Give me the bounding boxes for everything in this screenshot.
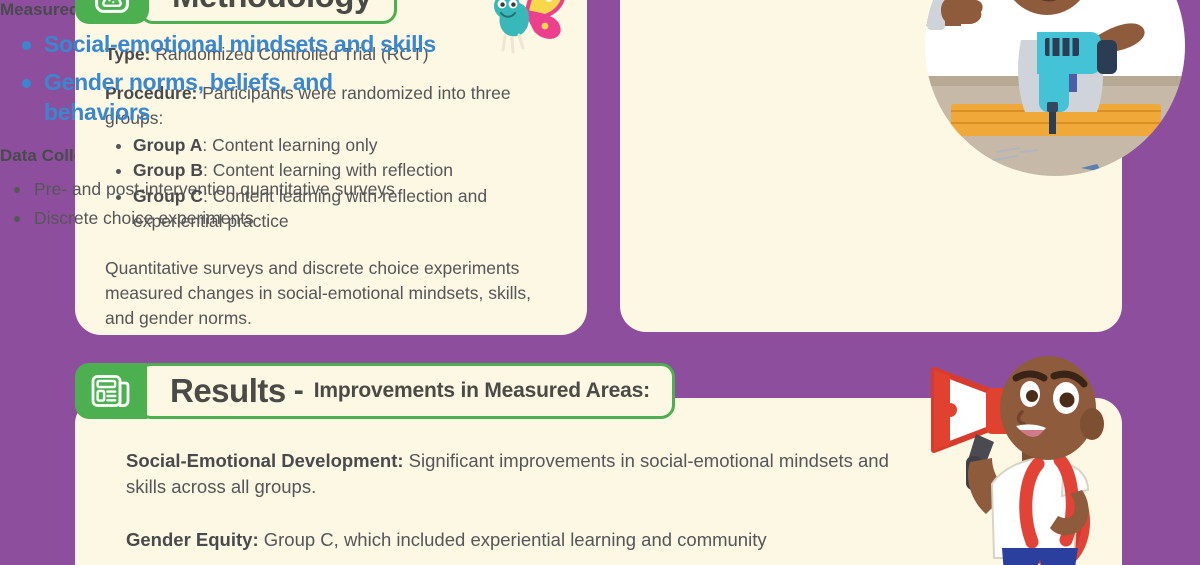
results-item-label: Social-Emotional Development: (126, 450, 404, 471)
results-item: Social-Emotional Development: Significan… (126, 448, 926, 501)
newspaper-icon (75, 363, 147, 419)
results-item: Gender Equity: Group C, which included e… (126, 527, 926, 553)
results-subtitle: Improvements in Measured Areas: (314, 379, 650, 403)
list-item: Discrete choice experiments (0, 205, 440, 232)
results-header-body: Results - Improvements in Measured Areas… (137, 363, 675, 419)
list-item: Social-emotional mindsets and skills (0, 30, 440, 60)
methodology-title: Methodology (172, 0, 372, 15)
outcomes-body: Measured Outcomes: Social-emotional mind… (0, 0, 440, 232)
results-header: Results - Improvements in Measured Areas… (75, 363, 675, 419)
flask-icon (75, 0, 149, 24)
results-title: Results (170, 372, 286, 410)
methodology-header-body: Methodology (139, 0, 397, 24)
results-body: Social-Emotional Development: Significan… (126, 448, 926, 565)
list-item: Pre- and post-intervention quantitative … (0, 176, 440, 203)
list-item: Gender norms, beliefs, and behaviors (0, 68, 440, 128)
measured-outcomes-list: Social-emotional mindsets and skills Gen… (0, 30, 440, 128)
results-dash: - (294, 374, 304, 408)
methodology-header: Methodology (75, 0, 397, 24)
infographic-page: Methodology Type: Randomized Controlled … (0, 0, 1200, 565)
list-item: Group A: Content learning only (133, 133, 560, 158)
butterfly-illustration (483, 0, 569, 56)
group-text: : Content learning only (202, 135, 377, 155)
methodology-closing: Quantitative surveys and discrete choice… (105, 256, 560, 331)
results-item-text: Group C, which included experiential lea… (259, 529, 767, 550)
group-label: Group A (133, 135, 202, 155)
drill-kid-illustration (921, 0, 1189, 180)
results-item-label: Gender Equity: (126, 529, 259, 550)
megaphone-kid-illustration (930, 352, 1130, 565)
